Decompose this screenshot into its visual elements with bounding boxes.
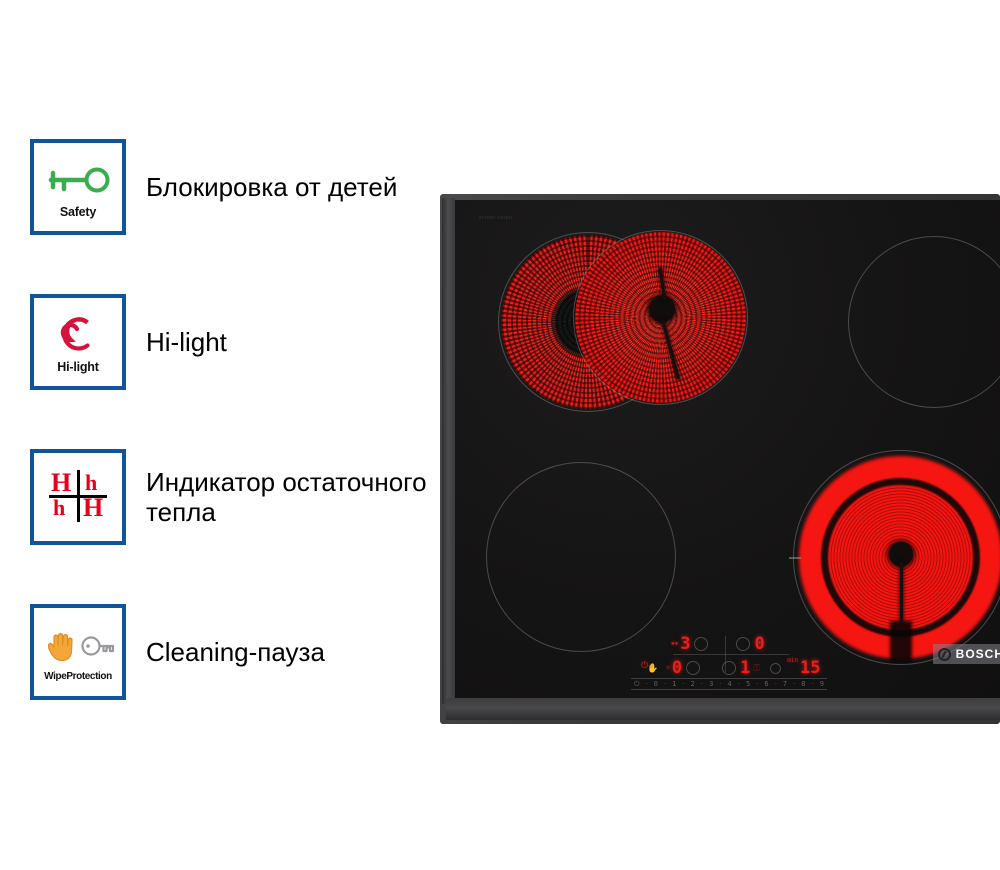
feature-label: Индикатор остаточного тепла	[146, 467, 440, 528]
wipe-protection-icon	[40, 622, 116, 670]
slider-sep: ·	[755, 681, 759, 688]
hand-icon	[49, 634, 72, 661]
key-icon	[83, 638, 114, 655]
slider-tick-4[interactable]: 4	[728, 681, 732, 688]
touch-key-front-left[interactable]	[686, 661, 700, 675]
feature-icon-caption: WipeProtection	[44, 672, 112, 682]
power-button[interactable]: ⏻	[641, 660, 648, 671]
slider-tick-5[interactable]: 5	[746, 681, 750, 688]
hh-quadrant-4: H	[83, 495, 103, 521]
display-front-right: 1	[740, 660, 750, 677]
feature-item-residual-heat: H h h H Индикатор остаточного тепла	[30, 449, 440, 545]
glass-brand-mark-left: schott ceran	[479, 216, 512, 221]
bosch-mark-icon	[938, 648, 951, 661]
front-left-indicator-icon: ▫	[666, 665, 670, 671]
cooktop-bevel-bottom	[446, 698, 1000, 720]
feature-icon-box-residual-heat: H h h H	[30, 449, 126, 545]
feature-item-hi-light: Hi-light Hi-light	[30, 294, 227, 390]
feature-icon-caption: Safety	[60, 206, 96, 219]
display-front-left: 0	[672, 660, 682, 677]
zone-outline-ring	[848, 236, 1000, 408]
cooktop-glass-surface: schott ceran	[453, 200, 1000, 698]
cooktop-product-image: schott ceran	[440, 194, 1000, 724]
feature-item-wipe-protection: WipeProtection Cleaning-пауза	[30, 604, 325, 700]
slider-tick-1[interactable]: 1	[672, 681, 676, 688]
slider-tick-9[interactable]: 9	[820, 681, 824, 688]
zone-tick-mark	[789, 557, 801, 559]
feature-icon-caption: Hi-light	[57, 361, 98, 374]
slider-sep: ·	[737, 681, 741, 688]
display-timer: 15	[800, 660, 820, 677]
wipe-protection-glyph-icon[interactable]: ✋	[647, 664, 658, 673]
slider-sep: ·	[792, 681, 796, 688]
slider-sep: ·	[718, 681, 722, 688]
slider-tick-6[interactable]: 6	[764, 681, 768, 688]
bosch-wordmark: BOSCH	[956, 647, 1000, 661]
slider-sep: ·	[681, 681, 685, 688]
slider-sep: ·	[774, 681, 778, 688]
slider-tick-2[interactable]: 2	[691, 681, 695, 688]
feature-icon-box-safety: Safety	[30, 139, 126, 235]
timer-unit-label: min	[787, 658, 798, 664]
cooking-zone-rear-left-inner[interactable]	[573, 230, 748, 405]
slider-tick-8[interactable]: 8	[801, 681, 805, 688]
slider-sep: ·	[810, 681, 814, 688]
slider-tick-power[interactable]: ⏻	[634, 681, 640, 688]
slider-tick-7[interactable]: 7	[783, 681, 787, 688]
zone-outline-ring	[486, 462, 676, 652]
timer-key[interactable]	[770, 663, 781, 674]
rear-left-indicator-icon: ▪▪	[671, 641, 678, 647]
feature-label: Cleaning-пауза	[146, 637, 325, 667]
panel-row-front-zones: ✋ ▫ 0 1 ⚿ min 15	[629, 656, 829, 680]
feature-list: Safety Блокировка от детей Hi-light Hi-l…	[0, 0, 440, 870]
slider-sep: ·	[645, 681, 649, 688]
feature-label: Блокировка от детей	[146, 172, 397, 202]
slider-sep: ·	[700, 681, 704, 688]
control-panel[interactable]: ▪▪ 3 0 ✋ ▫ 0 1 ⚿ min 15 ⏻	[629, 632, 829, 692]
display-rear-right: 0	[754, 636, 764, 653]
hh-vertical-divider	[77, 470, 80, 522]
feature-icon-box-wipe-protection: WipeProtection	[30, 604, 126, 700]
slider-tick-0[interactable]: 0	[654, 681, 658, 688]
touch-key-rear-left[interactable]	[694, 637, 708, 651]
hh-quadrant-2: h	[85, 472, 97, 494]
power-level-slider[interactable]: ⏻ · 0 · 1 · 2 · 3 · 4 · 5 · 6 · 7 · 8 ·	[631, 678, 827, 690]
hh-quadrant-3: h	[53, 497, 65, 519]
panel-row-rear-zones: ▪▪ 3 0	[629, 632, 829, 656]
safety-key-icon	[45, 156, 111, 204]
child-lock-glyph-icon[interactable]: ⚿	[753, 664, 760, 673]
cooktop-bevel-left	[442, 198, 455, 704]
residual-heat-hh-icon: H h h H	[49, 468, 107, 524]
display-rear-left: 3	[680, 636, 690, 653]
feature-icon-box-hi-light: Hi-light	[30, 294, 126, 390]
cooking-zone-rear-right[interactable]	[848, 236, 1000, 408]
touch-key-front-right[interactable]	[722, 661, 736, 675]
slider-sep: ·	[663, 681, 667, 688]
hh-quadrant-1: H	[51, 470, 71, 496]
feature-item-child-lock: Safety Блокировка от детей	[30, 139, 397, 235]
hi-light-spiral-icon	[54, 311, 102, 359]
feature-label: Hi-light	[146, 327, 227, 357]
slider-tick-3[interactable]: 3	[709, 681, 713, 688]
cooking-zone-front-left[interactable]	[486, 462, 676, 652]
bosch-logo: BOSCH	[933, 644, 1000, 664]
touch-key-rear-right[interactable]	[736, 637, 750, 651]
